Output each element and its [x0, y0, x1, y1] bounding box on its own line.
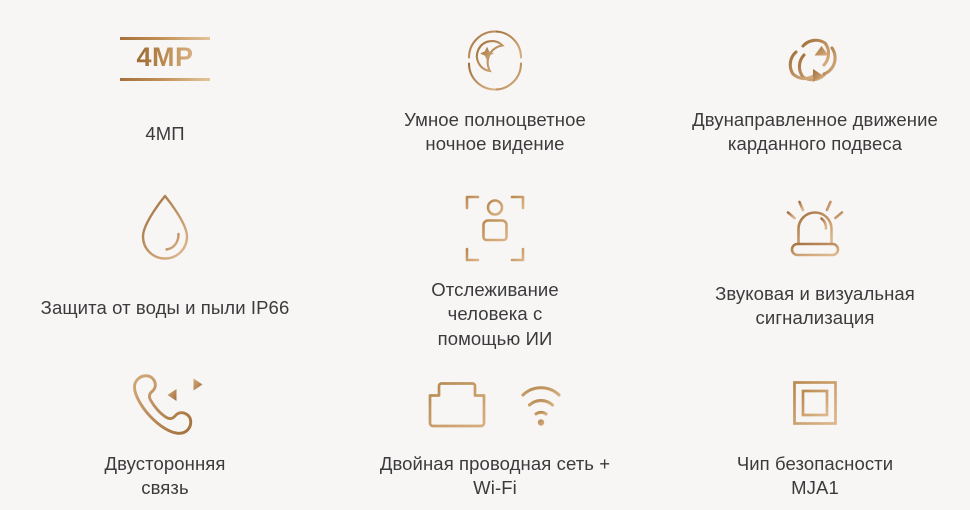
feature-item-alarm: Звуковая и визуальная сигнализация	[660, 170, 970, 350]
feature-item-night-vision: Умное полноцветное ночное видение	[330, 0, 660, 170]
feature-item-security-chip: Чип безопасности MJA1	[660, 350, 970, 510]
siren-alarm-icon	[660, 192, 970, 266]
feature-label: Чип безопасности MJA1	[729, 452, 901, 501]
feature-label: Звуковая и визуальная сигнализация	[707, 282, 923, 331]
two-way-audio-phone-icon	[0, 366, 330, 440]
feature-item-human-tracking: Отслеживание человека с помощью ИИ	[330, 170, 660, 350]
badge-text: 4MP	[136, 40, 193, 76]
feature-item-4mp: 4MP 4МП	[0, 0, 330, 170]
feature-grid: 4MP 4МП	[0, 0, 970, 510]
feature-label: Двойная проводная сеть + Wi-Fi	[372, 452, 618, 501]
feature-label: Защита от воды и пыли IP66	[33, 296, 298, 320]
water-drop-icon	[0, 192, 330, 266]
feature-label: Отслеживание человека с помощью ИИ	[423, 278, 566, 351]
badge-rule-bottom	[120, 78, 210, 81]
bidirectional-gimbal-rotation-icon	[660, 22, 970, 96]
night-vision-moon-icon	[330, 22, 660, 96]
feature-item-two-way-audio: Двусторонняя связь	[0, 350, 330, 510]
feature-item-gimbal-rotation: Двунаправленное движение карданного подв…	[660, 0, 970, 170]
ethernet-plus-wifi-icon	[330, 366, 660, 440]
feature-label: 4МП	[137, 122, 192, 146]
feature-label: Двусторонняя связь	[96, 452, 233, 501]
4mp-badge-icon: 4MP	[0, 22, 330, 96]
feature-item-network: Двойная проводная сеть + Wi-Fi	[330, 350, 660, 510]
feature-label: Умное полноцветное ночное видение	[396, 108, 594, 157]
security-chip-icon	[660, 366, 970, 440]
feature-label: Двунаправленное движение карданного подв…	[684, 108, 946, 157]
feature-item-ip66: Защита от воды и пыли IP66	[0, 170, 330, 350]
human-tracking-frame-icon	[330, 192, 660, 266]
